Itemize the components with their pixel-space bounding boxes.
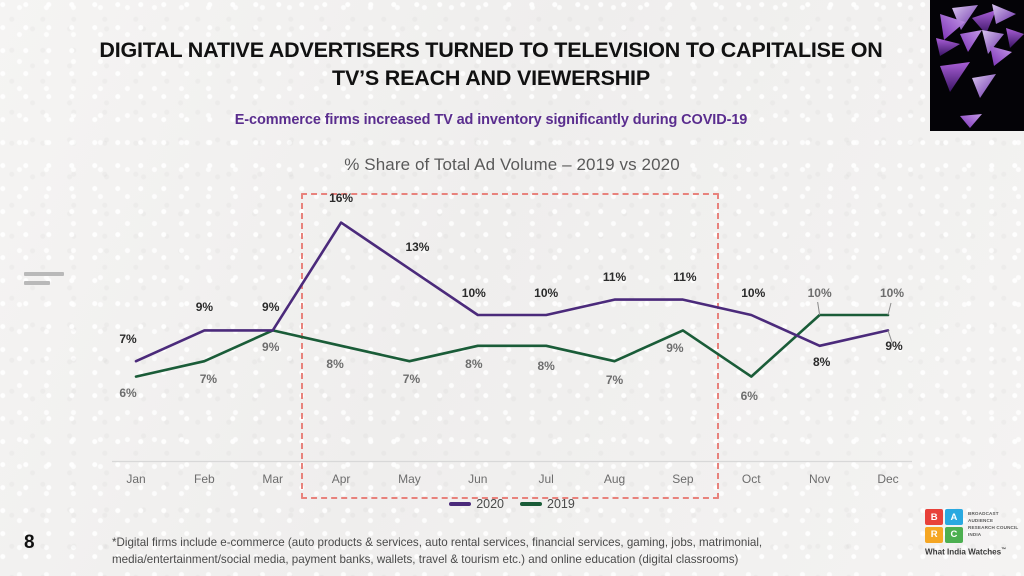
barc-trademark: ™ — [1001, 547, 1006, 553]
x-axis-label-jun: Jun — [448, 472, 508, 486]
data-label-2019-jul: 8% — [520, 359, 572, 373]
data-label-2020-dec: 9% — [868, 339, 920, 353]
data-label-2019-may: 7% — [385, 372, 437, 386]
x-axis-label-oct: Oct — [721, 472, 781, 486]
decorative-triangles-panel — [930, 0, 1024, 131]
footnote: *Digital firms include e-commerce (auto … — [112, 535, 857, 569]
data-label-2020-sep: 11% — [659, 270, 711, 284]
barc-logo-cell-c: C — [945, 527, 963, 543]
data-label-2020-apr: 16% — [315, 191, 367, 205]
data-label-2019-jun: 8% — [448, 357, 500, 371]
page-title-line2: TV’S REACH AND VIEWERSHIP — [96, 64, 886, 92]
x-axis-label-sep: Sep — [653, 472, 713, 486]
x-axis-label-apr: Apr — [311, 472, 371, 486]
barc-tagline-text: What India Watches — [925, 548, 1001, 557]
data-label-2019-dec: 10% — [866, 286, 918, 300]
leader-line — [888, 303, 891, 315]
data-label-2020-jan: 7% — [102, 332, 154, 346]
data-label-2019-aug: 7% — [589, 373, 641, 387]
barc-logo-words: BROADCAST AUDIENCE RESEARCH COUNCIL INDI… — [968, 511, 1020, 539]
data-label-2020-jul: 10% — [520, 286, 572, 300]
barc-logo: BARC BROADCAST AUDIENCE RESEARCH COUNCIL… — [925, 509, 1021, 561]
x-axis-label-nov: Nov — [790, 472, 850, 486]
page-number: 8 — [24, 532, 35, 554]
barc-logo-tagline: What India Watches™ — [925, 547, 1021, 557]
legend-label-2019: 2019 — [547, 497, 575, 511]
page-title: DIGITAL NATIVE ADVERTISERS TURNED TO TEL… — [96, 36, 886, 93]
barc-logo-grid: BARC — [925, 509, 963, 543]
data-label-2019-sep: 9% — [649, 341, 701, 355]
x-axis-label-jan: Jan — [106, 472, 166, 486]
data-label-2019-nov: 10% — [794, 286, 846, 300]
x-axis-label-jul: Jul — [516, 472, 576, 486]
page-title-line1: DIGITAL NATIVE ADVERTISERS TURNED TO TEL… — [96, 36, 886, 64]
x-axis-label-may: May — [379, 472, 439, 486]
x-axis-label-aug: Aug — [585, 472, 645, 486]
chart-legend: 2020 2019 — [0, 497, 1024, 511]
data-label-2020-feb: 9% — [178, 300, 230, 314]
legend-swatch-2019 — [520, 502, 542, 506]
data-label-2020-nov: 8% — [796, 355, 848, 369]
data-label-2019-jan: 6% — [102, 386, 154, 400]
data-label-2020-mar: 9% — [245, 300, 297, 314]
label-leader-lines — [818, 302, 892, 342]
data-label-2019-mar: 9% — [245, 340, 297, 354]
legend-label-2020: 2020 — [476, 497, 504, 511]
legend-item-2020[interactable]: 2020 — [449, 497, 504, 511]
triangles-graphic — [930, 0, 1024, 131]
legend-swatch-2020 — [449, 502, 471, 506]
accent-bar-top — [24, 272, 64, 276]
barc-logo-cell-r: R — [925, 527, 943, 543]
footnote-line2: media/entertainment/social media, paymen… — [112, 552, 857, 569]
page-subtitle: E-commerce firms increased TV ad invento… — [96, 112, 886, 128]
chart-title: % Share of Total Ad Volume – 2019 vs 202… — [112, 155, 912, 175]
x-axis-label-feb: Feb — [174, 472, 234, 486]
data-label-2019-feb: 7% — [182, 372, 234, 386]
data-label-2020-jun: 10% — [448, 286, 500, 300]
x-axis-label-mar: Mar — [243, 472, 303, 486]
accent-bar-bottom — [24, 281, 50, 285]
data-label-2019-oct: 6% — [723, 389, 775, 403]
data-label-2019-apr: 8% — [309, 357, 361, 371]
data-label-2020-may: 13% — [391, 240, 443, 254]
slide-accent-mark — [24, 272, 64, 285]
barc-logo-cell-a: A — [945, 509, 963, 525]
legend-item-2019[interactable]: 2019 — [520, 497, 575, 511]
footnote-line1: *Digital firms include e-commerce (auto … — [112, 535, 857, 552]
barc-logo-cell-b: B — [925, 509, 943, 525]
data-label-2020-aug: 11% — [589, 270, 641, 284]
title-block: DIGITAL NATIVE ADVERTISERS TURNED TO TEL… — [96, 36, 886, 128]
x-axis-label-dec: Dec — [858, 472, 918, 486]
leader-line — [818, 302, 820, 315]
data-label-2020-oct: 10% — [727, 286, 779, 300]
